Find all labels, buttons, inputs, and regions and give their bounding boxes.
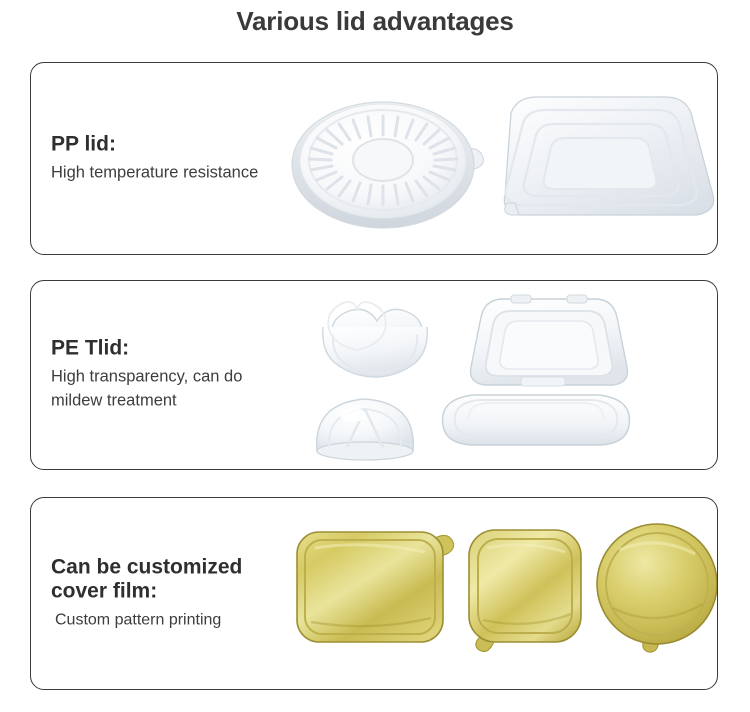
dome-pe-lid-shape: [317, 399, 414, 460]
card-pe-lid: PE Tlid: High transparency, can do milde…: [30, 280, 718, 470]
rectangular-pp-lid-shape: [504, 97, 713, 215]
gold-square-cover-film-shape: [469, 530, 581, 652]
card-pp-lid: PP lid: High temperature resistance: [30, 62, 718, 255]
card-film-product-images: [287, 498, 717, 689]
oval-flat-pe-lid-shape: [443, 395, 630, 445]
card-pp-product-images: [287, 63, 717, 254]
page-title: Various lid advantages: [0, 6, 750, 37]
square-pe-lid-shape: [471, 295, 628, 386]
card-cover-film: Can be customized cover film: Custom pat…: [30, 497, 718, 690]
round-ribbed-pp-lid-shape: [292, 102, 483, 228]
heart-shaped-pe-lid-shape: [323, 302, 428, 377]
gold-round-cover-film-shape: [597, 524, 717, 652]
infographic-page: Various lid advantages PP lid: High temp…: [0, 0, 750, 712]
card-pe-product-images: [287, 281, 717, 469]
gold-rectangular-cover-film-shape: [297, 532, 454, 642]
